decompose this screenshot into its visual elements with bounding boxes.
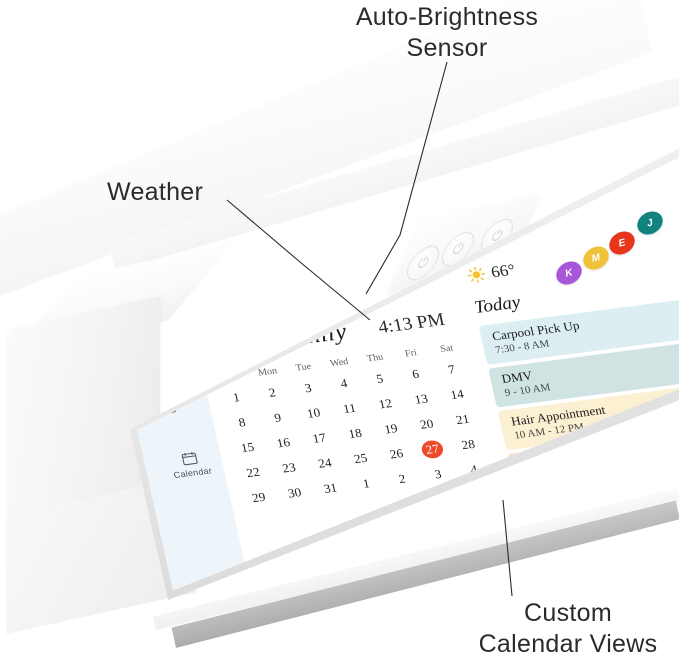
weather-temperature: 66° (489, 261, 517, 283)
day-cell[interactable]: 3 (289, 379, 328, 398)
day-cell[interactable]: 1 (217, 388, 256, 407)
day-cell[interactable]: 24 (305, 454, 344, 473)
product-photo-stage: ⏻ ⏻ ⏻ S (0, 0, 679, 659)
day-cell[interactable]: 1 (347, 474, 386, 493)
day-cell[interactable]: 4 (324, 374, 363, 393)
day-cell[interactable]: 6 (396, 365, 435, 384)
day-cell-today[interactable]: 27 (413, 440, 452, 459)
day-of-week-label: Wed (320, 355, 358, 370)
day-cell[interactable]: 25 (341, 449, 380, 468)
day-cell[interactable]: 2 (253, 383, 292, 402)
callout-custom-calendar-views: Custom Calendar Views (463, 598, 673, 659)
day-cell[interactable]: 23 (269, 458, 308, 477)
family-calendar-device: ⏻ ⏻ ⏻ S (0, 92, 679, 604)
day-cell[interactable]: 15 (228, 438, 267, 457)
day-of-week-label: Thu (356, 351, 394, 366)
day-cell[interactable]: 29 (239, 488, 278, 507)
day-cell[interactable]: 18 (336, 424, 375, 443)
callout-auto-brightness-sensor: Auto-Brightness Sensor (322, 2, 572, 63)
sun-icon (466, 265, 488, 284)
day-cell[interactable]: 22 (234, 463, 273, 482)
day-cell[interactable]: 12 (366, 394, 405, 413)
day-cell[interactable]: 20 (407, 415, 446, 434)
clock: 4:13 PM (376, 310, 446, 339)
day-of-week-label: Sat (428, 341, 466, 356)
day-cell[interactable]: 14 (438, 385, 477, 404)
day-cell[interactable]: 17 (300, 429, 339, 448)
day-of-week-label: Tue (284, 360, 322, 375)
day-cell[interactable]: 9 (258, 408, 297, 427)
day-cell[interactable]: 13 (402, 390, 441, 409)
day-cell[interactable]: 10 (294, 404, 333, 423)
day-cell[interactable]: 30 (275, 483, 314, 502)
day-cell[interactable]: 19 (371, 419, 410, 438)
day-cell[interactable]: 28 (449, 435, 488, 454)
callout-weather: Weather (107, 177, 267, 208)
day-cell[interactable]: 31 (311, 479, 350, 498)
weather-widget[interactable]: 66° (465, 261, 517, 286)
day-cell[interactable]: 7 (432, 360, 471, 379)
day-cell[interactable]: 21 (443, 410, 482, 429)
day-cell[interactable]: 5 (360, 369, 399, 388)
day-cell[interactable]: 11 (330, 399, 369, 418)
day-cell[interactable]: 16 (264, 433, 303, 452)
day-of-week-label: Fri (392, 346, 430, 361)
sidebar-item-calendar[interactable]: Calendar (159, 448, 223, 481)
day-cell[interactable]: 8 (222, 413, 261, 432)
today-heading: Today (472, 292, 522, 318)
day-cell[interactable]: 26 (377, 444, 416, 463)
day-cell[interactable]: 2 (383, 469, 422, 488)
